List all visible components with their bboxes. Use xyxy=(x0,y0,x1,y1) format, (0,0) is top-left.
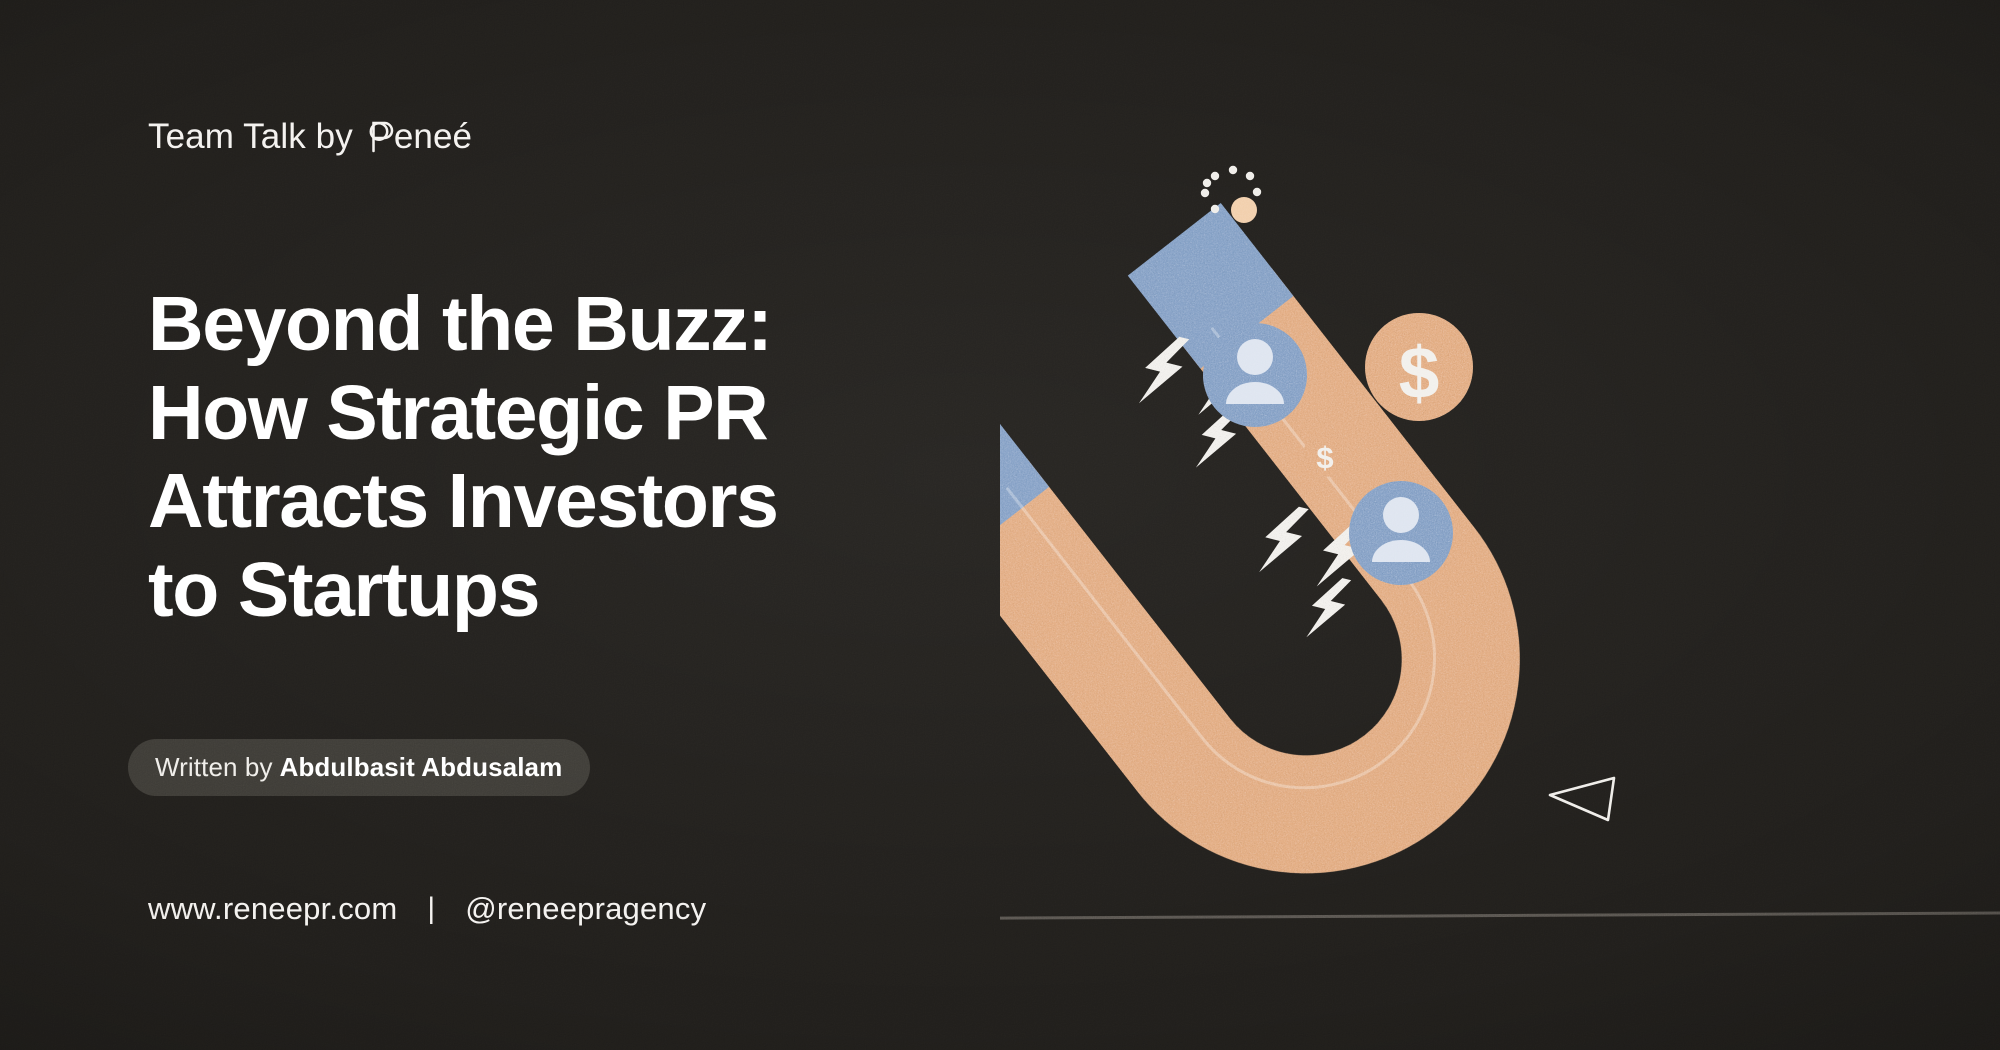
headline-line-2: How Strategic PR xyxy=(148,369,948,458)
footer-social-handle[interactable]: @reneepragency xyxy=(465,891,706,927)
byline-author: Abdulbasit Abdusalam xyxy=(280,752,563,783)
dollar-icon: $ xyxy=(1399,333,1440,414)
brand-lockup: Team Talk by eneé xyxy=(148,114,472,157)
brand-name: eneé xyxy=(394,117,472,157)
headline-line-1: Beyond the Buzz: xyxy=(148,280,948,369)
brand-prefix: Team Talk by xyxy=(148,117,353,157)
dollar-icon: $ xyxy=(1316,440,1333,475)
content-column: Team Talk by eneé Beyond the Buzz: How S… xyxy=(148,0,968,1050)
magnet-illustration: $ $ xyxy=(1000,0,2000,1050)
footer-website[interactable]: www.reneepr.com xyxy=(148,891,397,927)
renee-logo: eneé xyxy=(366,114,472,157)
money-badge-large: $ xyxy=(1365,313,1473,421)
investor-avatar-badge-2 xyxy=(1349,481,1453,585)
headline-line-3: Attracts Investors xyxy=(148,457,948,546)
renee-r-monogram-icon xyxy=(366,119,398,153)
headline-line-4: to Startups xyxy=(148,546,948,635)
byline-badge: Written by Abdulbasit Abdusalam xyxy=(128,739,590,796)
footer-separator: | xyxy=(427,892,435,926)
poster-canvas: Team Talk by eneé Beyond the Buzz: How S… xyxy=(0,0,2000,1050)
headline: Beyond the Buzz: How Strategic PR Attrac… xyxy=(148,280,948,636)
magnet-shape xyxy=(1000,203,1570,913)
money-badge-small: $ xyxy=(1303,433,1347,477)
investor-avatar-badge-1 xyxy=(1203,323,1307,427)
footer-contact: www.reneepr.com | @reneepragency xyxy=(148,891,706,927)
byline-prefix: Written by xyxy=(155,752,273,783)
ground-line-decor xyxy=(1000,913,2000,919)
